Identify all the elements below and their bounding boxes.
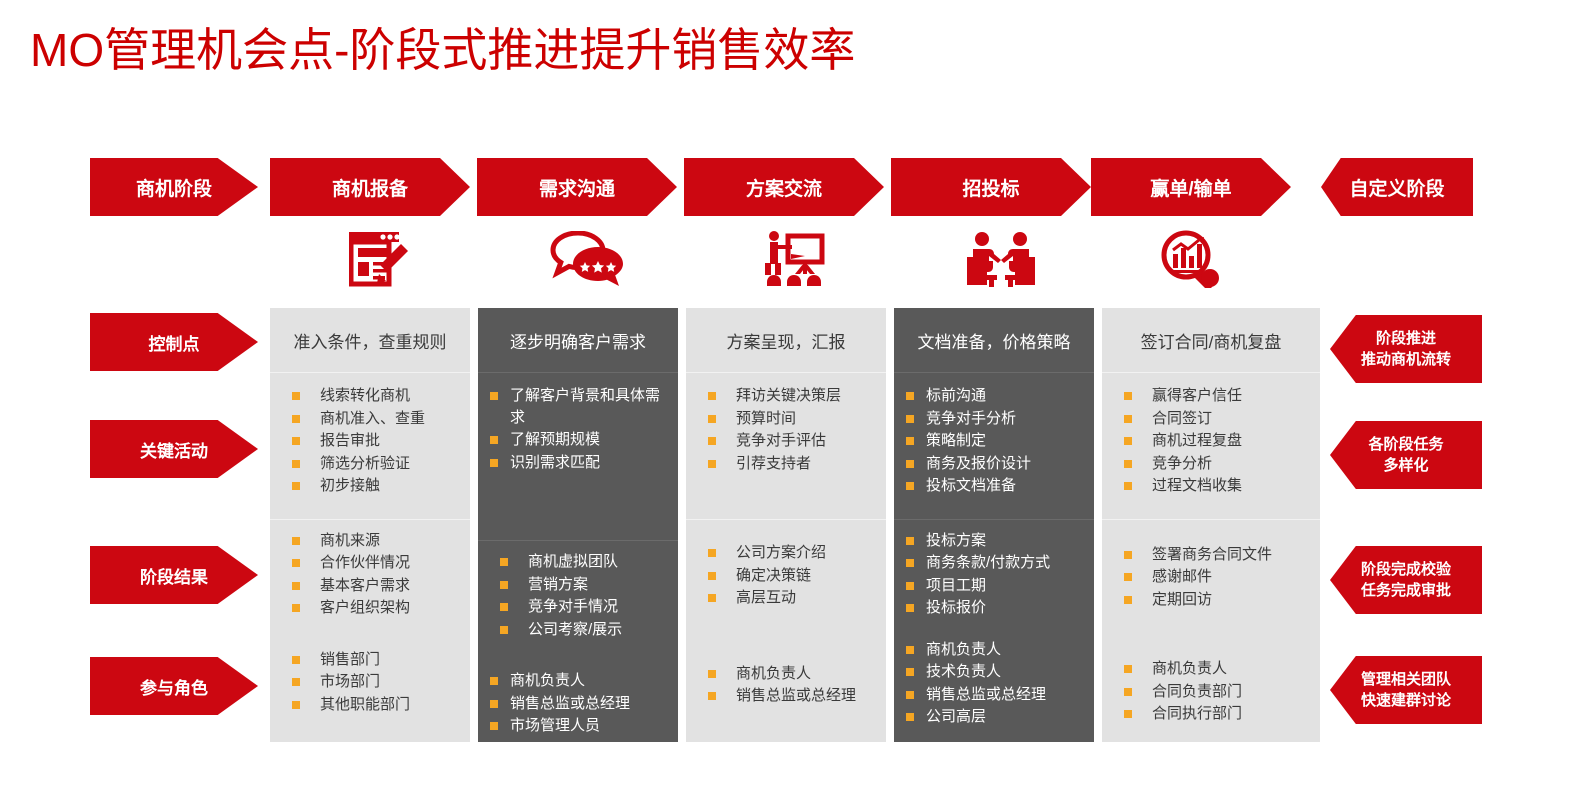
roles-block-3: 商机负责人 销售总监或总经理 bbox=[686, 655, 886, 707]
two-people-meeting-icon bbox=[965, 231, 1037, 287]
list-item: 商机负责人 bbox=[904, 639, 1084, 661]
activities-block-3: 拜访关键决策层 预算时间 竞争对手评估 引荐支持者 bbox=[686, 373, 886, 474]
stage-chevron-1[interactable]: 商机报备 bbox=[270, 158, 470, 216]
stage-icon-5-cell bbox=[1101, 228, 1281, 290]
list-item: 客户组织架构 bbox=[280, 597, 460, 619]
roles-list-4: 商机负责人 技术负责人 销售总监或总经理 公司高层 bbox=[904, 639, 1084, 728]
row-label-roles[interactable]: 参与角色 bbox=[90, 657, 258, 715]
callout-control[interactable]: 阶段推进 推动商机流转 bbox=[1330, 315, 1482, 383]
row-label-stage[interactable]: 商机阶段 bbox=[90, 158, 258, 216]
column-divider bbox=[686, 372, 886, 373]
activities-block-2: 了解客户背景和具体需求 了解预期规模 识别需求匹配 bbox=[478, 373, 678, 473]
list-item: 过程文档收集 bbox=[1112, 475, 1310, 497]
list-item: 商机虚拟团队 bbox=[488, 551, 668, 573]
list-item: 销售总监或总经理 bbox=[904, 684, 1084, 706]
list-item: 基本客户需求 bbox=[280, 575, 460, 597]
custom-stage-label: 自定义阶段 bbox=[1349, 174, 1444, 201]
list-item: 商机负责人 bbox=[488, 670, 668, 692]
list-item: 商务条款/付款方式 bbox=[904, 552, 1084, 574]
results-block-5: 签署商务合同文件 感谢邮件 定期回访 bbox=[1102, 520, 1320, 611]
activities-block-1: 线索转化商机 商机准入、查重 报告审批 筛选分析验证 初步接触 bbox=[270, 373, 470, 497]
list-item: 竞争对手分析 bbox=[904, 408, 1084, 430]
results-block-1: 商机来源 合作伙伴情况 基本客户需求 客户组织架构 bbox=[270, 520, 470, 619]
list-item: 合同负责部门 bbox=[1112, 681, 1310, 703]
list-item: 销售总监或总经理 bbox=[488, 693, 668, 715]
list-item: 销售部门 bbox=[280, 649, 460, 671]
activities-list-2: 了解客户背景和具体需求 了解预期规模 识别需求匹配 bbox=[488, 385, 668, 473]
list-item: 拜访关键决策层 bbox=[696, 385, 876, 407]
activities-list-5: 赢得客户信任 合同签订 商机过程复盘 竞争分析 过程文档收集 bbox=[1112, 385, 1310, 497]
stage-chevron-5[interactable]: 赢单/输单 bbox=[1091, 158, 1291, 216]
list-item: 营销方案 bbox=[488, 574, 668, 596]
list-item: 标前沟通 bbox=[904, 385, 1084, 407]
form-edit-icon bbox=[349, 230, 411, 288]
stage-chevron-4-label: 招投标 bbox=[962, 174, 1019, 201]
results-block-4: 投标方案 商务条款/付款方式 项目工期 投标报价 bbox=[894, 520, 1094, 619]
list-item: 市场部门 bbox=[280, 671, 460, 693]
page-title: MO管理机会点-阶段式推进提升销售效率 bbox=[30, 20, 855, 80]
callout-line: 阶段完成校验 bbox=[1361, 559, 1451, 580]
list-item: 技术负责人 bbox=[904, 661, 1084, 683]
list-item: 确定决策链 bbox=[696, 565, 876, 587]
slide-canvas: MO管理机会点-阶段式推进提升销售效率 商机阶段 商机报备 需求沟通 方案交流 … bbox=[0, 0, 1574, 796]
custom-stage-chevron[interactable]: 自定义阶段 bbox=[1321, 158, 1473, 216]
list-item: 筛选分析验证 bbox=[280, 453, 460, 475]
callout-line: 阶段推进 bbox=[1361, 328, 1451, 349]
results-block-2: 商机虚拟团队 营销方案 竞争对手情况 公司考察/展示 bbox=[478, 541, 678, 640]
activities-list-3: 拜访关键决策层 预算时间 竞争对手评估 引荐支持者 bbox=[696, 385, 876, 474]
roles-list-5: 商机负责人 合同负责部门 合同执行部门 bbox=[1112, 658, 1310, 725]
list-item: 商机准入、查重 bbox=[280, 408, 460, 430]
roles-list-2: 商机负责人 销售总监或总经理 市场管理人员 bbox=[488, 670, 668, 737]
stage-chevron-4[interactable]: 招投标 bbox=[891, 158, 1091, 216]
stage-chevron-3[interactable]: 方案交流 bbox=[684, 158, 884, 216]
list-item: 签署商务合同文件 bbox=[1112, 544, 1310, 566]
stage-chevron-5-label: 赢单/输单 bbox=[1150, 174, 1231, 201]
callout-line: 各阶段任务 bbox=[1368, 434, 1443, 455]
list-item: 高层互动 bbox=[696, 587, 876, 609]
list-item: 感谢邮件 bbox=[1112, 566, 1310, 588]
list-item: 合同执行部门 bbox=[1112, 703, 1310, 725]
list-item: 引荐支持者 bbox=[696, 453, 876, 475]
list-item: 报告审批 bbox=[280, 430, 460, 452]
list-item: 竞争分析 bbox=[1112, 453, 1310, 475]
callout-activities[interactable]: 各阶段任务 多样化 bbox=[1330, 421, 1482, 489]
chart-magnifier-icon bbox=[1160, 230, 1222, 288]
results-list-1: 商机来源 合作伙伴情况 基本客户需求 客户组织架构 bbox=[280, 530, 460, 619]
results-list-4: 投标方案 商务条款/付款方式 项目工期 投标报价 bbox=[904, 530, 1084, 619]
list-item: 商机负责人 bbox=[1112, 658, 1310, 680]
row-label-results-text: 阶段结果 bbox=[140, 563, 208, 588]
presentation-audience-icon bbox=[761, 230, 827, 288]
matrix-column-1: 准入条件，查重规则 线索转化商机 商机准入、查重 报告审批 筛选分析验证 初步接… bbox=[270, 308, 470, 742]
results-block-3: 公司方案介绍 确定决策链 高层互动 bbox=[686, 520, 886, 609]
column-divider bbox=[1102, 372, 1320, 373]
matrix-column-5: 签订合同/商机复盘 赢得客户信任 合同签订 商机过程复盘 竞争分析 过程文档收集… bbox=[1102, 308, 1320, 742]
stage-chevron-2[interactable]: 需求沟通 bbox=[477, 158, 677, 216]
list-item: 竞争对手评估 bbox=[696, 430, 876, 452]
column-divider bbox=[686, 519, 886, 520]
callout-line: 快速建群讨论 bbox=[1361, 690, 1451, 711]
control-point-2: 逐步明确客户需求 bbox=[478, 308, 678, 372]
control-point-4: 文档准备，价格策略 bbox=[894, 308, 1094, 372]
stage-chevron-1-label: 商机报备 bbox=[332, 174, 408, 201]
stage-matrix: 准入条件，查重规则 线索转化商机 商机准入、查重 报告审批 筛选分析验证 初步接… bbox=[270, 308, 1320, 742]
list-item: 其他职能部门 bbox=[280, 694, 460, 716]
list-item: 识别需求匹配 bbox=[488, 452, 668, 474]
callout-results-lines: 阶段完成校验 任务完成审批 bbox=[1361, 559, 1451, 601]
list-item: 投标报价 bbox=[904, 597, 1084, 619]
list-item: 竞争对手情况 bbox=[488, 596, 668, 618]
list-item: 商机负责人 bbox=[696, 663, 876, 685]
callout-roles[interactable]: 管理相关团队 快速建群讨论 bbox=[1330, 656, 1482, 724]
roles-block-1: 销售部门 市场部门 其他职能部门 bbox=[270, 641, 470, 716]
callout-line: 任务完成审批 bbox=[1361, 580, 1451, 601]
callout-results[interactable]: 阶段完成校验 任务完成审批 bbox=[1330, 546, 1482, 614]
column-divider bbox=[894, 519, 1094, 520]
list-item: 合作伙伴情况 bbox=[280, 552, 460, 574]
row-label-roles-text: 参与角色 bbox=[140, 674, 208, 699]
roles-block-2: 商机负责人 销售总监或总经理 市场管理人员 bbox=[478, 662, 678, 737]
list-item: 公司考察/展示 bbox=[488, 619, 668, 641]
row-label-activities[interactable]: 关键活动 bbox=[90, 420, 258, 478]
roles-list-3: 商机负责人 销售总监或总经理 bbox=[696, 663, 876, 707]
column-divider bbox=[478, 540, 678, 541]
column-divider bbox=[270, 519, 470, 520]
callout-line: 多样化 bbox=[1368, 455, 1443, 476]
activities-list-1: 线索转化商机 商机准入、查重 报告审批 筛选分析验证 初步接触 bbox=[280, 385, 460, 497]
stage-icon-1-cell bbox=[290, 228, 470, 290]
stage-icon-2-cell bbox=[497, 228, 677, 290]
stage-chevron-3-label: 方案交流 bbox=[746, 174, 822, 201]
list-item: 投标文档准备 bbox=[904, 475, 1084, 497]
matrix-column-2: 逐步明确客户需求 了解客户背景和具体需求 了解预期规模 识别需求匹配 商机虚拟团… bbox=[478, 308, 678, 742]
results-list-3: 公司方案介绍 确定决策链 高层互动 bbox=[696, 542, 876, 609]
column-divider bbox=[270, 372, 470, 373]
callout-activities-lines: 各阶段任务 多样化 bbox=[1368, 434, 1443, 476]
list-item: 定期回访 bbox=[1112, 589, 1310, 611]
callout-control-lines: 阶段推进 推动商机流转 bbox=[1361, 328, 1451, 370]
list-item: 线索转化商机 bbox=[280, 385, 460, 407]
matrix-column-3: 方案呈现，汇报 拜访关键决策层 预算时间 竞争对手评估 引荐支持者 公司方案介绍… bbox=[686, 308, 886, 742]
control-point-1: 准入条件，查重规则 bbox=[270, 308, 470, 372]
list-item: 策略制定 bbox=[904, 430, 1084, 452]
list-item: 市场管理人员 bbox=[488, 715, 668, 737]
stage-chevron-2-label: 需求沟通 bbox=[539, 174, 615, 201]
callout-roles-lines: 管理相关团队 快速建群讨论 bbox=[1361, 669, 1451, 711]
callout-line: 推动商机流转 bbox=[1361, 349, 1451, 370]
list-item: 公司方案介绍 bbox=[696, 542, 876, 564]
results-list-2: 商机虚拟团队 营销方案 竞争对手情况 公司考察/展示 bbox=[488, 551, 668, 640]
list-item: 了解预期规模 bbox=[488, 429, 668, 451]
list-item: 投标方案 bbox=[904, 530, 1084, 552]
roles-list-1: 销售部门 市场部门 其他职能部门 bbox=[280, 649, 460, 716]
row-label-results[interactable]: 阶段结果 bbox=[90, 546, 258, 604]
control-point-3: 方案呈现，汇报 bbox=[686, 308, 886, 372]
row-label-control-text: 控制点 bbox=[149, 330, 200, 355]
list-item: 公司高层 bbox=[904, 706, 1084, 728]
results-list-5: 签署商务合同文件 感谢邮件 定期回访 bbox=[1112, 544, 1310, 611]
list-item: 销售总监或总经理 bbox=[696, 685, 876, 707]
stage-icon-4-cell bbox=[911, 228, 1091, 290]
row-label-activities-text: 关键活动 bbox=[140, 437, 208, 462]
roles-block-4: 商机负责人 技术负责人 销售总监或总经理 公司高层 bbox=[894, 631, 1094, 728]
activities-list-4: 标前沟通 竞争对手分析 策略制定 商务及报价设计 投标文档准备 bbox=[904, 385, 1084, 497]
list-item: 了解客户背景和具体需求 bbox=[488, 385, 668, 428]
column-divider bbox=[894, 372, 1094, 373]
roles-block-5: 商机负责人 合同负责部门 合同执行部门 bbox=[1102, 650, 1320, 725]
column-divider bbox=[1102, 519, 1320, 520]
list-item: 商机过程复盘 bbox=[1112, 430, 1310, 452]
list-item: 商务及报价设计 bbox=[904, 453, 1084, 475]
list-item: 商机来源 bbox=[280, 530, 460, 552]
list-item: 初步接触 bbox=[280, 475, 460, 497]
control-point-5: 签订合同/商机复盘 bbox=[1102, 308, 1320, 372]
activities-block-4: 标前沟通 竞争对手分析 策略制定 商务及报价设计 投标文档准备 bbox=[894, 373, 1094, 497]
row-label-control[interactable]: 控制点 bbox=[90, 313, 258, 371]
column-divider bbox=[478, 372, 678, 373]
list-item: 赢得客户信任 bbox=[1112, 385, 1310, 407]
row-label-stage-text: 商机阶段 bbox=[136, 174, 212, 201]
list-item: 项目工期 bbox=[904, 575, 1084, 597]
stage-icon-3-cell bbox=[704, 228, 884, 290]
callout-line: 管理相关团队 bbox=[1361, 669, 1451, 690]
list-item: 预算时间 bbox=[696, 408, 876, 430]
chat-bubbles-stars-icon bbox=[548, 231, 626, 287]
activities-block-5: 赢得客户信任 合同签订 商机过程复盘 竞争分析 过程文档收集 bbox=[1102, 373, 1320, 497]
list-item: 合同签订 bbox=[1112, 408, 1310, 430]
matrix-column-4: 文档准备，价格策略 标前沟通 竞争对手分析 策略制定 商务及报价设计 投标文档准… bbox=[894, 308, 1094, 742]
